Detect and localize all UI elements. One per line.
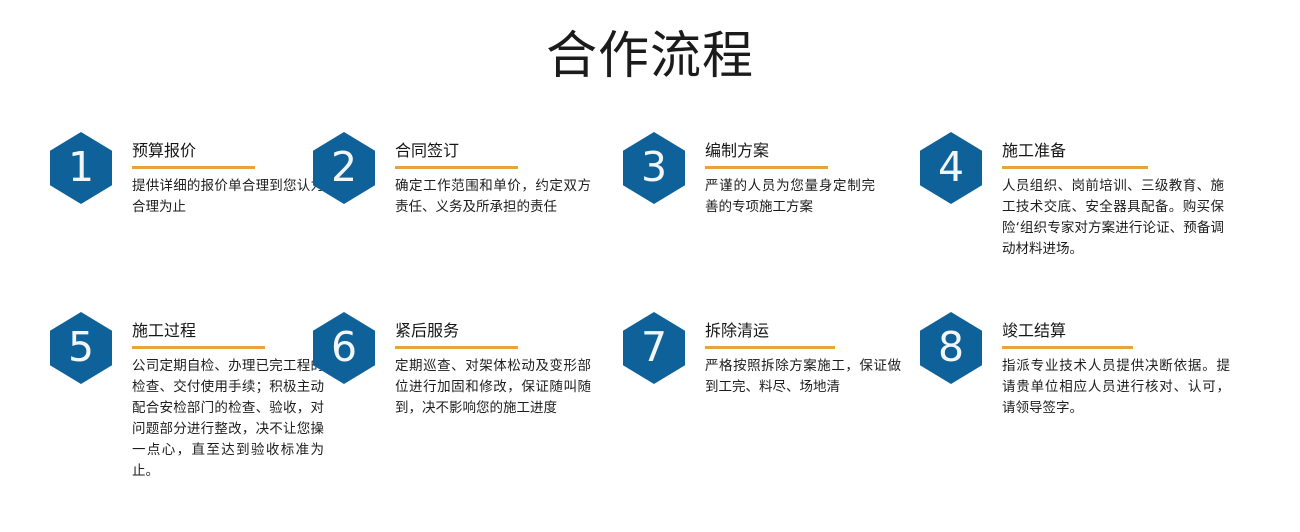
step-8-badge: 8 bbox=[920, 308, 988, 384]
hexagon-icon: 3 bbox=[623, 132, 685, 204]
title-underline bbox=[705, 166, 828, 169]
title-underline bbox=[1002, 346, 1133, 349]
step-3-text: 编制方案 严谨的人员为您量身定制完善的专项施工方案 bbox=[691, 128, 910, 218]
hexagon-icon: 8 bbox=[920, 312, 982, 384]
step-title: 施工准备 bbox=[1002, 141, 1300, 161]
step-number: 6 bbox=[331, 327, 357, 368]
step-description: 提供详细的报价单合理到您认为合理为止 bbox=[132, 176, 324, 218]
step-1-badge: 1 bbox=[50, 128, 118, 204]
process-step-row-bottom: 5 施工过程 公司定期自检、办理已完工程的检查、交付使用手续；积极主动配合安检部… bbox=[0, 308, 1300, 482]
process-step-3: 3 编制方案 严谨的人员为您量身定制完善的专项施工方案 bbox=[610, 128, 910, 218]
title-underline bbox=[132, 346, 265, 349]
title-underline bbox=[132, 166, 255, 169]
title-underline bbox=[1002, 166, 1148, 169]
process-step-4: 4 施工准备 人员组织、岗前培训、三级教育、施工技术交底、安全器具配备。购买保险… bbox=[910, 128, 1300, 260]
step-number: 7 bbox=[641, 327, 667, 368]
step-description: 定期巡查、对架体松动及变形部位进行加固和修改，保证随叫随到，决不影响您的施工进度 bbox=[395, 356, 591, 419]
hexagon-icon: 1 bbox=[50, 132, 112, 204]
step-6-badge: 6 bbox=[313, 308, 381, 384]
title-underline bbox=[395, 166, 518, 169]
step-1-text: 预算报价 提供详细的报价单合理到您认为合理为止 bbox=[118, 128, 305, 218]
step-description: 公司定期自检、办理已完工程的检查、交付使用手续；积极主动配合安检部门的检查、验收… bbox=[132, 356, 324, 482]
step-title: 紧后服务 bbox=[395, 321, 610, 341]
step-number: 3 bbox=[641, 147, 667, 188]
step-title: 拆除清运 bbox=[705, 321, 910, 341]
step-title: 预算报价 bbox=[132, 141, 305, 161]
step-description: 人员组织、岗前培训、三级教育、施工技术交底、安全器具配备。购买保险‘组织专家对方… bbox=[1002, 176, 1224, 260]
step-description: 严谨的人员为您量身定制完善的专项施工方案 bbox=[705, 176, 875, 218]
title-underline bbox=[395, 346, 518, 349]
step-number: 8 bbox=[938, 327, 964, 368]
step-3-badge: 3 bbox=[623, 128, 691, 204]
step-description: 确定工作范围和单价，约定双方责任、义务及所承担的责任 bbox=[395, 176, 591, 218]
hexagon-icon: 6 bbox=[313, 312, 375, 384]
step-4-text: 施工准备 人员组织、岗前培训、三级教育、施工技术交底、安全器具配备。购买保险‘组… bbox=[988, 128, 1300, 260]
step-description: 指派专业技术人员提供决断依据。提请贵单位相应人员进行核对、认可，请领导签字。 bbox=[1002, 356, 1230, 419]
process-step-row-top: 1 预算报价 提供详细的报价单合理到您认为合理为止 2 合同签订 确定工作范围和… bbox=[0, 128, 1300, 306]
process-step-8: 8 竣工结算 指派专业技术人员提供决断依据。提请贵单位相应人员进行核对、认可，请… bbox=[910, 308, 1300, 419]
step-title: 编制方案 bbox=[705, 141, 910, 161]
process-steps-grid: 1 预算报价 提供详细的报价单合理到您认为合理为止 2 合同签订 确定工作范围和… bbox=[0, 128, 1300, 482]
step-title: 竣工结算 bbox=[1002, 321, 1300, 341]
process-step-6: 6 紧后服务 定期巡查、对架体松动及变形部位进行加固和修改，保证随叫随到，决不影… bbox=[305, 308, 610, 419]
step-number: 4 bbox=[938, 147, 964, 188]
step-4-badge: 4 bbox=[920, 128, 988, 204]
step-5-text: 施工过程 公司定期自检、办理已完工程的检查、交付使用手续；积极主动配合安检部门的… bbox=[118, 308, 305, 482]
step-6-text: 紧后服务 定期巡查、对架体松动及变形部位进行加固和修改，保证随叫随到，决不影响您… bbox=[381, 308, 610, 419]
step-number: 2 bbox=[331, 147, 357, 188]
process-step-7: 7 拆除清运 严格按照拆除方案施工，保证做到工完、料尽、场地清 bbox=[610, 308, 910, 398]
hexagon-icon: 2 bbox=[313, 132, 375, 204]
step-7-badge: 7 bbox=[623, 308, 691, 384]
step-5-badge: 5 bbox=[50, 308, 118, 384]
title-underline bbox=[705, 346, 835, 349]
step-2-text: 合同签订 确定工作范围和单价，约定双方责任、义务及所承担的责任 bbox=[381, 128, 610, 218]
step-number: 5 bbox=[68, 327, 94, 368]
step-description: 严格按照拆除方案施工，保证做到工完、料尽、场地清 bbox=[705, 356, 901, 398]
step-title: 施工过程 bbox=[132, 321, 305, 341]
hexagon-icon: 4 bbox=[920, 132, 982, 204]
step-8-text: 竣工结算 指派专业技术人员提供决断依据。提请贵单位相应人员进行核对、认可，请领导… bbox=[988, 308, 1300, 419]
process-step-5: 5 施工过程 公司定期自检、办理已完工程的检查、交付使用手续；积极主动配合安检部… bbox=[0, 308, 305, 482]
step-number: 1 bbox=[68, 147, 94, 188]
step-7-text: 拆除清运 严格按照拆除方案施工，保证做到工完、料尽、场地清 bbox=[691, 308, 910, 398]
step-title: 合同签订 bbox=[395, 141, 610, 161]
process-step-1: 1 预算报价 提供详细的报价单合理到您认为合理为止 bbox=[0, 128, 305, 218]
process-step-2: 2 合同签订 确定工作范围和单价，约定双方责任、义务及所承担的责任 bbox=[305, 128, 610, 218]
page-title: 合作流程 bbox=[0, 26, 1300, 88]
hexagon-icon: 7 bbox=[623, 312, 685, 384]
step-2-badge: 2 bbox=[313, 128, 381, 204]
hexagon-icon: 5 bbox=[50, 312, 112, 384]
